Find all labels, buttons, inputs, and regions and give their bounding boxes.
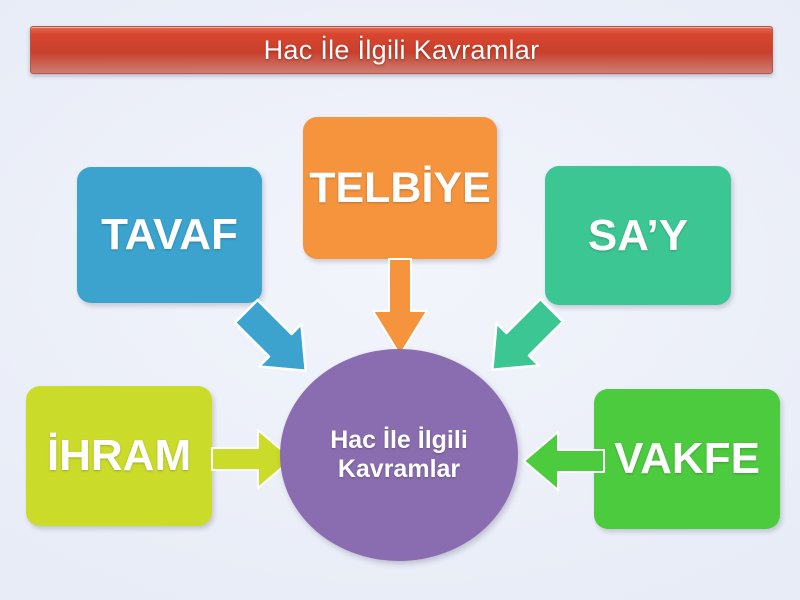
center-node-hac-ile-ilgili-kavramlar[interactable]: Hac İle İlgili Kavramlar	[280, 349, 518, 561]
arrow-say-to-center	[474, 292, 570, 388]
concept-label-say: SA’Y	[588, 214, 688, 258]
concept-label-ihram: İHRAM	[47, 434, 191, 478]
concept-label-telbiye: TELBİYE	[309, 167, 491, 210]
concept-box-vakfe[interactable]: VAKFE	[594, 389, 780, 529]
concept-box-say[interactable]: SA’Y	[545, 166, 731, 305]
arrow-tavaf-to-center	[228, 293, 324, 389]
slide-title-bar: Hac İle İlgili Kavramlar	[30, 26, 773, 74]
center-label-line2: Kavramlar	[338, 455, 460, 485]
concept-box-telbiye[interactable]: TELBİYE	[303, 117, 497, 259]
concept-label-tavaf: TAVAF	[101, 213, 238, 257]
arrow-vakfe-to-center	[522, 430, 604, 492]
center-label-line1: Hac İle İlgili	[330, 426, 468, 456]
slide-canvas: Hac İle İlgili Kavramlar TAVAF TELBİYE S…	[0, 0, 800, 600]
concept-label-vakfe: VAKFE	[614, 437, 760, 481]
arrow-telbiye-to-center	[371, 259, 429, 357]
concept-box-tavaf[interactable]: TAVAF	[77, 167, 262, 303]
concept-box-ihram[interactable]: İHRAM	[26, 386, 212, 526]
page-title: Hac İle İlgili Kavramlar	[264, 35, 540, 66]
